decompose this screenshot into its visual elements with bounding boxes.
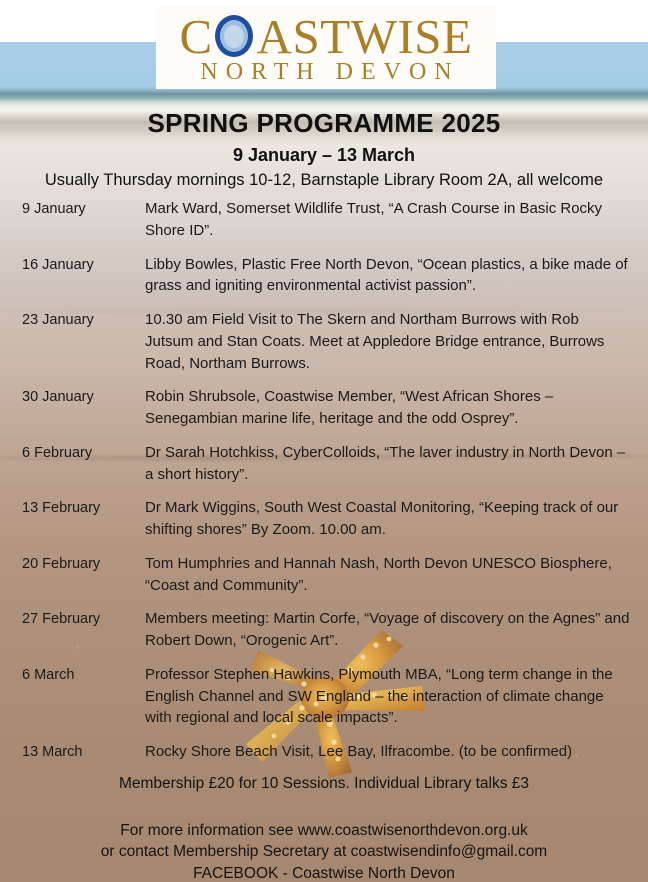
venue-info: Usually Thursday mornings 10-12, Barnsta… (0, 171, 648, 190)
list-item: 13 March Rocky Shore Beach Visit, Lee Ba… (0, 741, 648, 763)
date-range: 9 January – 13 March (0, 145, 648, 166)
entry-description: Dr Sarah Hotchkiss, CyberColloids, “The … (145, 442, 630, 486)
entry-date: 30 January (22, 386, 145, 408)
entry-date: 13 February (22, 497, 145, 519)
page-title: SPRING PROGRAMME 2025 (0, 108, 648, 139)
list-item: 6 February Dr Sarah Hotchkiss, CyberColl… (0, 442, 648, 486)
entry-date: 27 February (22, 608, 145, 630)
entry-description: Professor Stephen Hawkins, Plymouth MBA,… (145, 664, 630, 729)
entry-date: 23 January (22, 309, 145, 331)
entry-date: 16 January (22, 254, 145, 276)
entry-date: 20 February (22, 553, 145, 575)
logo-wordmark: C ASTWISE (179, 11, 472, 61)
contact-block: For more information see www.coastwiseno… (0, 820, 648, 882)
logo-letters-astwise: ASTWISE (257, 12, 473, 61)
logo-letter-c: C (179, 12, 212, 61)
facebook-line[interactable]: FACEBOOK - Coastwise North Devon (0, 863, 648, 882)
list-item: 23 January 10.30 am Field Visit to The S… (0, 309, 648, 374)
coastwise-logo: C ASTWISE NORTH DEVON (156, 6, 496, 89)
membership-info: Membership £20 for 10 Sessions. Individu… (0, 775, 648, 793)
entry-description: 10.30 am Field Visit to The Skern and No… (145, 309, 630, 374)
logo-subtitle: NORTH DEVON (192, 59, 459, 86)
list-item: 13 February Dr Mark Wiggins, South West … (0, 497, 648, 541)
header-block: SPRING PROGRAMME 2025 9 January – 13 Mar… (0, 108, 648, 190)
entry-description: Mark Ward, Somerset Wildlife Trust, “A C… (145, 198, 630, 242)
entry-date: 13 March (22, 741, 145, 763)
poster-root: C ASTWISE NORTH DEVON SPRING PROGRAMME 2… (0, 0, 648, 882)
concentric-circle-icon (212, 13, 256, 59)
entry-description: Tom Humphries and Hannah Nash, North Dev… (145, 553, 630, 597)
entry-description: Members meeting: Martin Corfe, “Voyage o… (145, 608, 630, 652)
programme-list: 9 January Mark Ward, Somerset Wildlife T… (0, 198, 648, 775)
list-item: 16 January Libby Bowles, Plastic Free No… (0, 254, 648, 298)
entry-description: Robin Shrubsole, Coastwise Member, “West… (145, 386, 630, 430)
list-item: 6 March Professor Stephen Hawkins, Plymo… (0, 664, 648, 729)
list-item: 27 February Members meeting: Martin Corf… (0, 608, 648, 652)
entry-description: Rocky Shore Beach Visit, Lee Bay, Ilfrac… (145, 741, 630, 763)
entry-date: 9 January (22, 198, 145, 220)
email-line[interactable]: or contact Membership Secretary at coast… (0, 841, 648, 862)
entry-description: Dr Mark Wiggins, South West Coastal Moni… (145, 497, 630, 541)
entry-date: 6 March (22, 664, 145, 686)
list-item: 9 January Mark Ward, Somerset Wildlife T… (0, 198, 648, 242)
list-item: 30 January Robin Shrubsole, Coastwise Me… (0, 386, 648, 430)
website-line[interactable]: For more information see www.coastwiseno… (0, 820, 648, 841)
entry-date: 6 February (22, 442, 145, 464)
entry-description: Libby Bowles, Plastic Free North Devon, … (145, 254, 630, 298)
list-item: 20 February Tom Humphries and Hannah Nas… (0, 553, 648, 597)
